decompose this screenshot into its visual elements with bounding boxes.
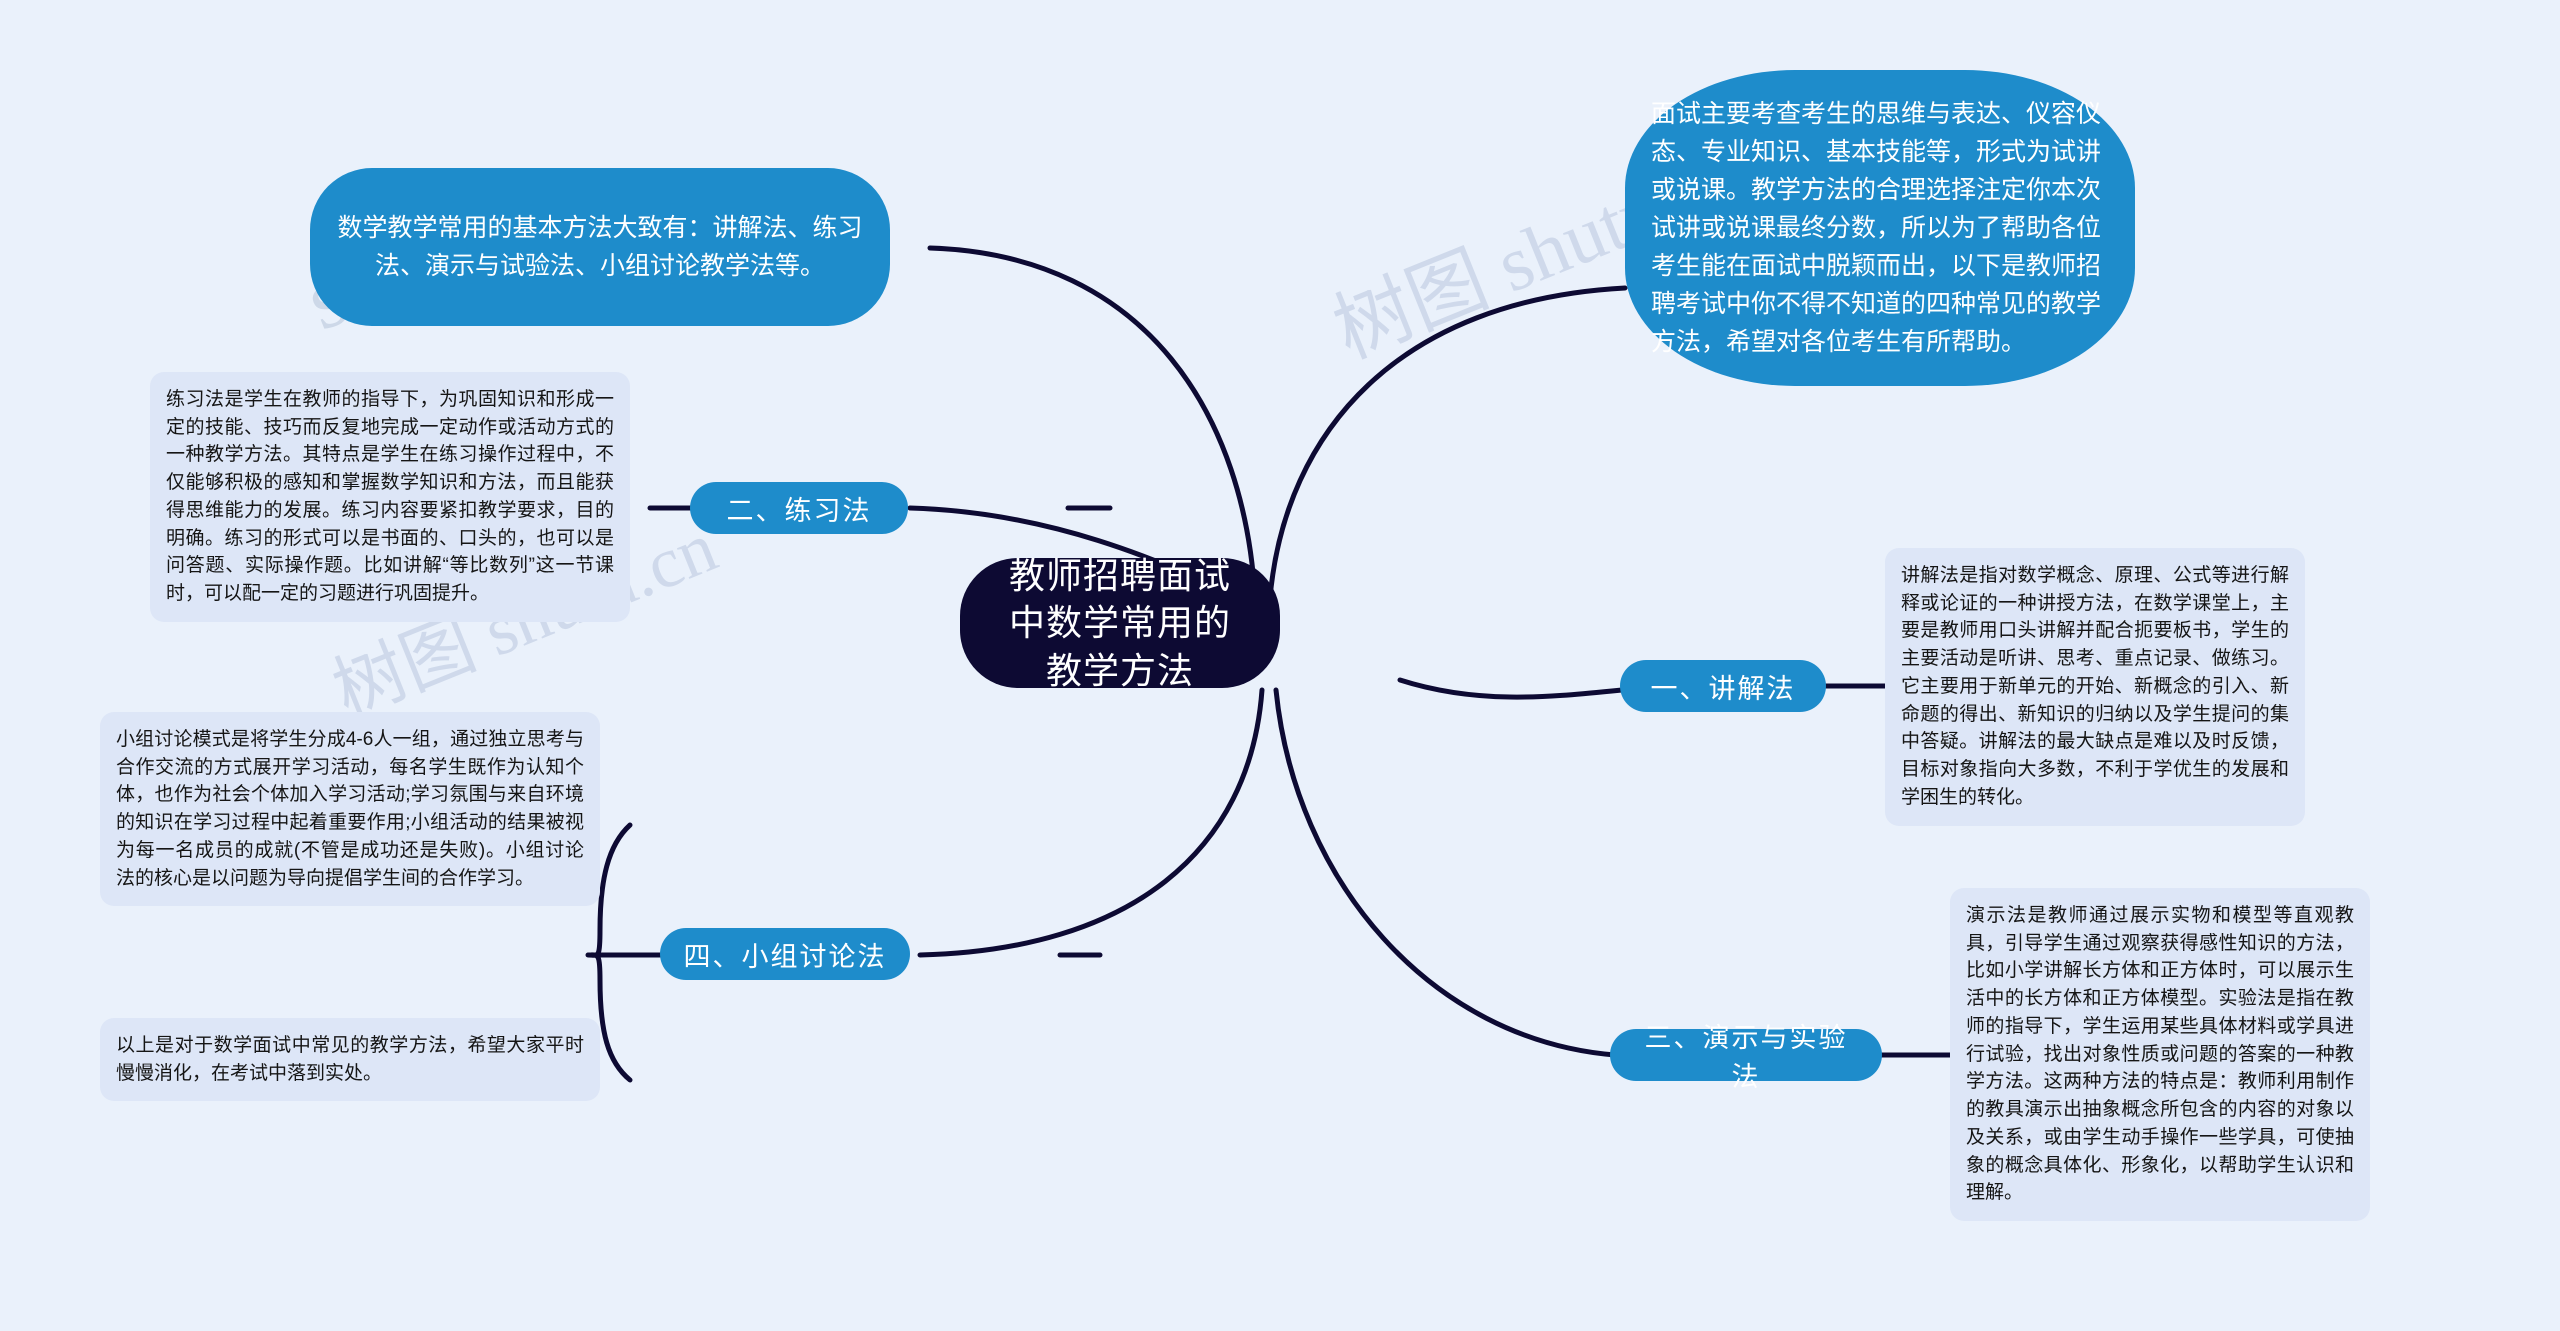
link-root-to-intro: [930, 248, 1255, 598]
note-summary[interactable]: 以上是对于数学面试中常见的教学方法，希望大家平时慢慢消化，在考试中落到实处。: [100, 1018, 600, 1101]
branch-jiangjiefa-label: 一、讲解法: [1651, 667, 1796, 706]
note-xiaozutaolunfa[interactable]: 小组讨论模式是将学生分成4-6人一组，通过独立思考与合作交流的方式展开学习活动，…: [100, 712, 600, 906]
intro-bubble[interactable]: 数学教学常用的基本方法大致有：讲解法、练习法、演示与试验法、小组讨论教学法等。: [310, 168, 890, 326]
branch-jiangjiefa[interactable]: 一、讲解法: [1620, 660, 1826, 712]
note-lianxifa[interactable]: 练习法是学生在教师的指导下，为巩固知识和形成一定的技能、技巧而反复地完成一定动作…: [150, 372, 630, 622]
branch-lianxifa[interactable]: 二、练习法: [690, 482, 908, 534]
link-root-to-xiaozutaolunfa: [920, 690, 1262, 955]
branch-xiaozutaolunfa-label: 四、小组讨论法: [684, 935, 887, 974]
hero-bubble-text: 面试主要考查考生的思维与表达、仪容仪态、专业知识、基本技能等，形式为试讲或说课。…: [1651, 95, 2109, 361]
branch-yanshiyushiyanfa[interactable]: 三、演示与实验法: [1610, 1029, 1882, 1081]
root-node[interactable]: 教师招聘面试中数学常用的教学方法: [960, 558, 1280, 688]
note-summary-text: 以上是对于数学面试中常见的教学方法，希望大家平时慢慢消化，在考试中落到实处。: [116, 1035, 584, 1084]
note-xiaozutaolunfa-text: 小组讨论模式是将学生分成4-6人一组，通过独立思考与合作交流的方式展开学习活动，…: [116, 729, 584, 889]
hero-bubble[interactable]: 面试主要考查考生的思维与表达、仪容仪态、专业知识、基本技能等，形式为试讲或说课。…: [1625, 70, 2135, 386]
link-root-to-hero: [1270, 288, 1625, 598]
branch-yanshiyushiyanfa-label: 三、演示与实验法: [1632, 1016, 1860, 1094]
branch-lianxifa-label: 二、练习法: [727, 489, 872, 528]
note-yanshiyushiyanfa[interactable]: 演示法是教师通过展示实物和模型等直观教具，引导学生通过观察获得感性知识的方法，比…: [1950, 888, 2370, 1221]
intro-bubble-text: 数学教学常用的基本方法大致有：讲解法、练习法、演示与试验法、小组讨论教学法等。: [336, 209, 864, 285]
note-yanshiyushiyanfa-text: 演示法是教师通过展示实物和模型等直观教具，引导学生通过观察获得感性知识的方法，比…: [1966, 905, 2354, 1203]
note-jiangjiefa[interactable]: 讲解法是指对数学概念、原理、公式等进行解释或论证的一种讲授方法，在数学课堂上，主…: [1885, 548, 2305, 826]
link-root-to-yanshishiyanfa: [1276, 690, 1615, 1055]
note-jiangjiefa-text: 讲解法是指对数学概念、原理、公式等进行解释或论证的一种讲授方法，在数学课堂上，主…: [1901, 565, 2289, 808]
mindmap-canvas: shutu.cn 树图 shutu.cn 树图 shutu.cn: [0, 0, 2560, 1331]
note-lianxifa-text: 练习法是学生在教师的指导下，为巩固知识和形成一定的技能、技巧而反复地完成一定动作…: [166, 389, 614, 604]
root-node-label: 教师招聘面试中数学常用的教学方法: [994, 552, 1246, 695]
branch-xiaozutaolunfa[interactable]: 四、小组讨论法: [660, 928, 910, 980]
